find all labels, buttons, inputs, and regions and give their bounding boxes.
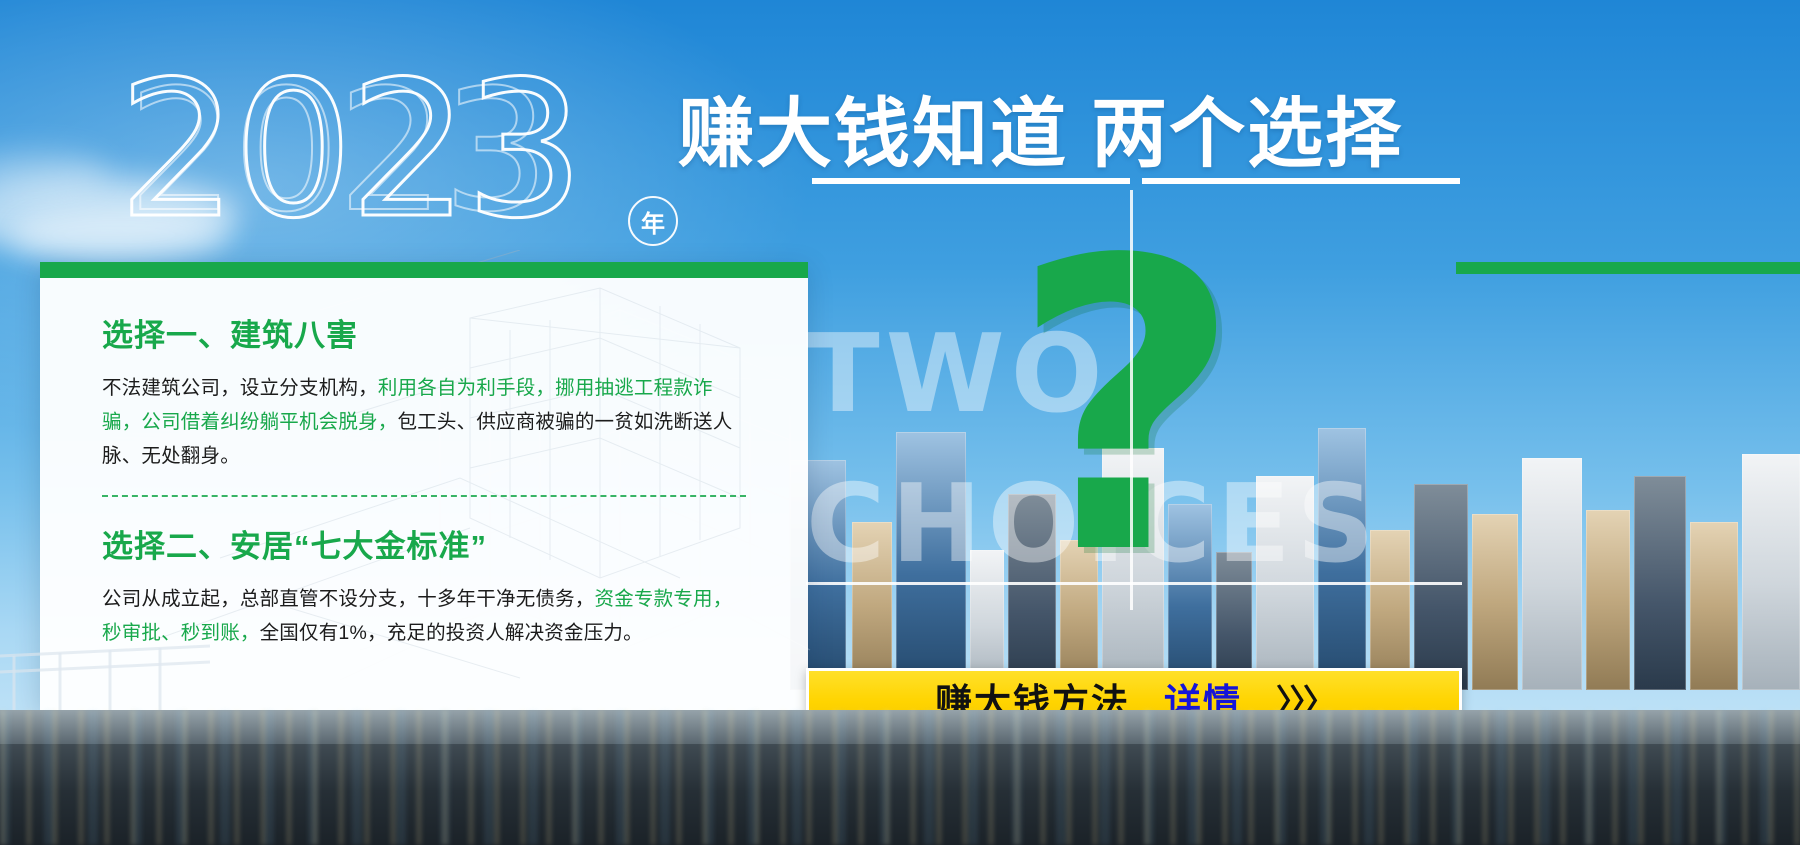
question-mark-graphic: ? — [1010, 210, 1242, 610]
vertical-divider — [1130, 190, 1133, 610]
section-one-paragraph: 不法建筑公司，设立分支机构，利用各自为利手段，挪用抽逃工程款诈骗，公司借着纠纷躺… — [102, 371, 746, 473]
s1-line1-green: 利用各自为利手段，挪用抽逃工程款 — [378, 377, 693, 399]
s2-line2-black: 全国仅有1%，充足的投资人解决资金压力。 — [260, 622, 643, 644]
section-divider — [102, 495, 746, 497]
green-accent-bar-right — [1456, 262, 1800, 274]
year-suffix-badge: 年 — [628, 196, 678, 246]
s1-line2-black: 包工头、供应商被骗的一贫如洗 — [398, 411, 674, 433]
section-one-title: 选择一、建筑八害 — [102, 310, 746, 355]
banner-stage: 2023 2023 年 赚大钱知道 两个选择 TWO CHOICES ? — [0, 0, 1800, 845]
water-shimmer — [0, 710, 1800, 845]
white-underline-rule — [806, 582, 1462, 585]
s1-line1-black: 不法建筑公司，设立分支机构， — [102, 377, 378, 399]
page-title: 赚大钱知道 两个选择 — [678, 72, 1403, 182]
water-reflection-band — [0, 710, 1800, 845]
year-inline-outline: 2023 — [128, 72, 548, 232]
s2-line1-green: 资金专款专 — [595, 588, 694, 610]
bridge-photo — [0, 560, 210, 710]
